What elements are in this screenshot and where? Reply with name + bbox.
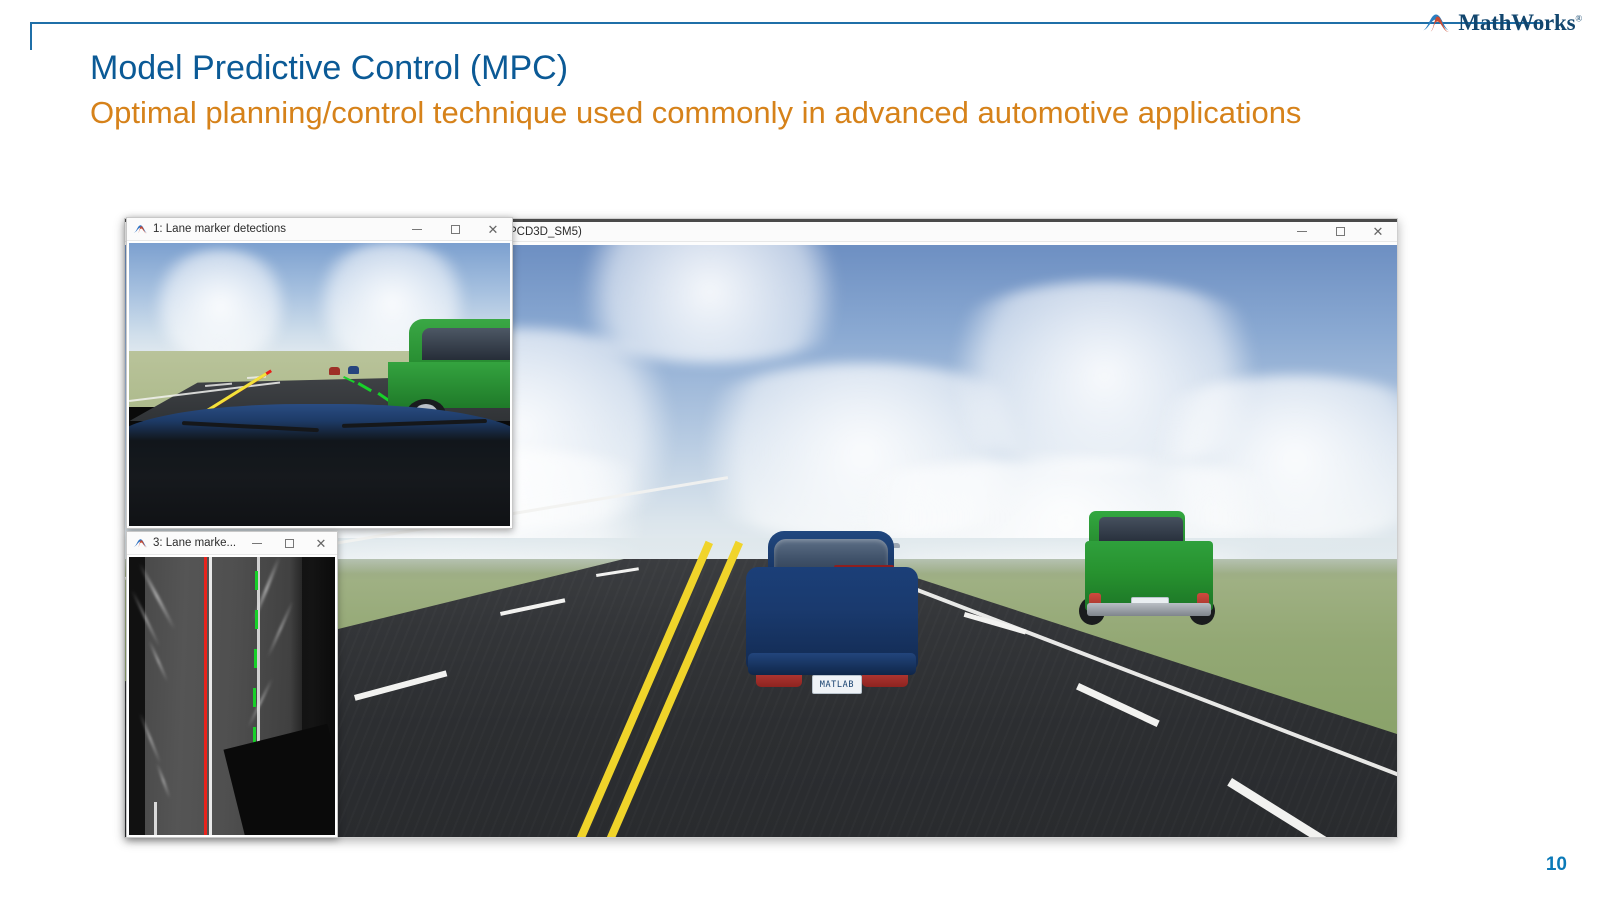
matlab-icon — [133, 537, 148, 550]
title-block: Model Predictive Control (MPC) Optimal p… — [90, 46, 1490, 135]
detected-right-lane-boundary-dash — [255, 610, 258, 629]
page-title: Model Predictive Control (MPC) — [90, 46, 1490, 91]
close-icon[interactable]: ✕ — [474, 218, 512, 240]
detected-right-lane-boundary-dash — [254, 649, 257, 668]
detected-right-lane-boundary-dash — [253, 688, 256, 707]
window-controls-simulation: ✕ — [1283, 222, 1397, 241]
sedan-bumper — [748, 653, 916, 675]
window-lane-marker-birdseye[interactable]: 3: Lane marke... ✕ — [126, 531, 338, 838]
window-controls-lane-marker-birdseye: ✕ — [241, 532, 337, 554]
pickup-windows — [422, 328, 510, 360]
titlebar-lane-marker-detections[interactable]: 1: Lane marker detections ✕ — [127, 218, 512, 241]
cloud — [144, 249, 296, 362]
dashcam-distant-red-car — [329, 367, 340, 375]
maximize-icon[interactable] — [436, 218, 474, 240]
pickup-bed — [1085, 541, 1213, 611]
minimize-icon[interactable] — [1283, 222, 1321, 241]
detected-right-lane-boundary-dash — [255, 571, 258, 590]
window-title-lane-marker-birdseye: 3: Lane marke... — [153, 537, 236, 549]
blue-sedan-vehicle: MATLAB — [742, 523, 922, 683]
window-lane-marker-detections[interactable]: 1: Lane marker detections ✕ — [126, 217, 513, 529]
screenshot-composite: PCD3D_SM5) ✕ — [124, 218, 1398, 838]
window-controls-lane-marker-detections: ✕ — [398, 218, 512, 240]
pickup-body — [388, 362, 510, 407]
window-title-simulation: PCD3D_SM5) — [509, 226, 582, 238]
birdseye-white-line-far-left — [154, 802, 157, 835]
brand-name: MathWorks® — [1458, 10, 1582, 36]
brand-trademark: ® — [1575, 13, 1582, 23]
maximize-icon[interactable] — [1321, 222, 1359, 241]
page-subtitle: Optimal planning/control technique used … — [90, 91, 1420, 135]
birdseye-white-line-left — [209, 557, 212, 835]
close-icon[interactable]: ✕ — [305, 532, 337, 554]
minimize-icon[interactable] — [241, 532, 273, 554]
green-pickup-vehicle — [1085, 511, 1213, 629]
mathworks-membrane-logo-icon — [1421, 10, 1451, 36]
birdseye-scene — [129, 557, 335, 835]
mathworks-brand: MathWorks® — [1421, 8, 1582, 38]
maximize-icon[interactable] — [273, 532, 305, 554]
pickup-bumper — [1087, 603, 1211, 616]
matlab-icon — [133, 223, 148, 236]
dashcam-distant-blue-car — [348, 366, 359, 374]
close-icon[interactable]: ✕ — [1359, 222, 1397, 241]
dashcam-scene — [129, 243, 510, 526]
minimize-icon[interactable] — [398, 218, 436, 240]
page-number: 10 — [1546, 854, 1567, 876]
sedan-license-plate: MATLAB — [812, 675, 862, 694]
window-title-lane-marker-detections: 1: Lane marker detections — [153, 223, 286, 235]
titlebar-lane-marker-birdseye[interactable]: 3: Lane marke... ✕ — [127, 532, 337, 555]
detected-left-lane-boundary — [204, 557, 207, 835]
